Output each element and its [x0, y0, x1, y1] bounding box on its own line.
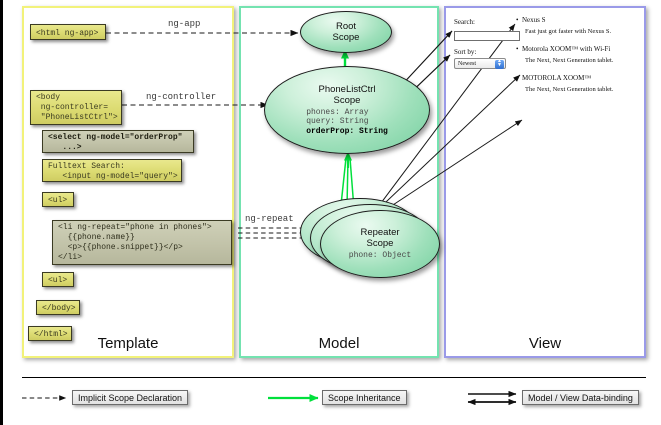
scope-repeater: Repeater Scope phone: Object: [320, 210, 440, 278]
code-box-ul-open: <ul>: [42, 192, 74, 207]
scope-repeater-title-line2: Scope: [367, 238, 394, 249]
code-box-html: <html ng-app>: [30, 24, 106, 40]
code-box-li-repeat: <li ng-repeat="phone in phones"> {{phone…: [52, 220, 232, 265]
scope-prop-phone: phone: Object: [349, 251, 411, 261]
scope-root-title-line1: Root: [336, 21, 356, 32]
scope-prop-phones: phones: Array: [306, 108, 388, 118]
phone-snippet: The Next, Next Generation tablet.: [525, 85, 642, 94]
sort-select-value: Newest: [458, 61, 476, 67]
chevron-updown-icon: ▲▼: [495, 60, 504, 69]
search-input[interactable]: [454, 31, 520, 41]
list-item[interactable]: •Motorola XOOM™ with Wi-Fi The Next, Nex…: [516, 45, 642, 65]
scope-root-title-line2: Scope: [333, 32, 360, 43]
code-box-select: <select ng-model="orderProp" ...>: [42, 130, 194, 153]
legend-item-inheritance: Scope Inheritance: [322, 390, 407, 405]
scope-prop-orderprop: orderProp: String: [306, 127, 388, 137]
list-item[interactable]: •MOTOROLA XOOM™ The Next, Next Generatio…: [516, 74, 642, 94]
scope-repeater-props: phone: Object: [349, 251, 411, 261]
legend-glyph-databinding: [468, 394, 516, 402]
scope-phonelistctrl-title-line2: Scope: [334, 95, 361, 106]
legend-divider: [22, 377, 646, 378]
search-label: Search:: [454, 18, 520, 27]
code-box-html-close: </html>: [28, 326, 72, 341]
scope-root: Root Scope: [300, 11, 392, 53]
diagram-canvas: Template Model View: [0, 0, 661, 425]
legend-item-implicit: Implicit Scope Declaration: [72, 390, 188, 405]
phone-snippet: Fast just got faster with Nexus S.: [525, 27, 642, 36]
code-box-ul-close: <ul>: [42, 272, 74, 287]
code-box-body-close: </body>: [36, 300, 80, 315]
code-box-input: Fulltext Search: <input ng-model="query"…: [42, 159, 182, 182]
legend-item-databinding: Model / View Data-binding: [522, 390, 639, 405]
view-phone-list: •Nexus S Fast just got faster with Nexus…: [516, 16, 642, 99]
list-item[interactable]: •Nexus S Fast just got faster with Nexus…: [516, 16, 642, 36]
phone-name: •Motorola XOOM™ with Wi-Fi: [516, 45, 642, 54]
scope-repeater-title-line1: Repeater: [360, 227, 399, 238]
scope-phonelistctrl: PhoneListCtrl Scope phones: Array query:…: [264, 66, 430, 154]
scope-prop-query: query: String: [306, 117, 388, 127]
sort-select[interactable]: Newest ▲▼: [454, 58, 506, 69]
phone-name: •MOTOROLA XOOM™: [516, 74, 642, 83]
sort-label: Sort by:: [454, 48, 520, 57]
edge-label-ng-repeat: ng-repeat: [245, 214, 294, 224]
phone-snippet: The Next, Next Generation tablet.: [525, 56, 642, 65]
scope-phonelistctrl-props: phones: Array query: String orderProp: S…: [306, 108, 388, 137]
code-box-body: <body ng-controller= "PhoneListCtrl">: [30, 90, 122, 125]
edge-label-ng-controller: ng-controller: [146, 92, 216, 102]
view-search-form: Search: Sort by: Newest ▲▼: [454, 18, 520, 69]
edge-label-ng-app: ng-app: [168, 19, 200, 29]
scope-phonelistctrl-title-line1: PhoneListCtrl: [318, 84, 375, 95]
phone-name: •Nexus S: [516, 16, 642, 25]
